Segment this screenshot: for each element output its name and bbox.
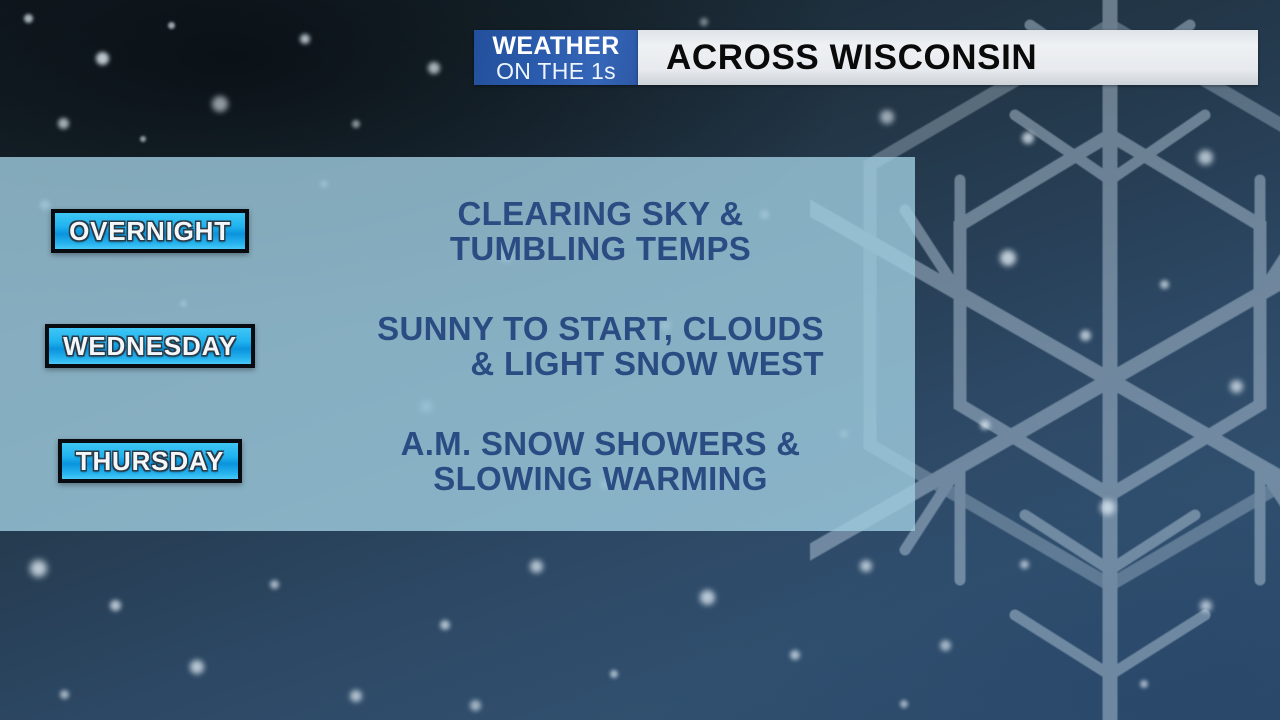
forecast-text-wrap: CLEARING SKY & TUMBLING TEMPS xyxy=(300,196,915,266)
weather-on-the-1s-logo: WEATHER ON THE 1s xyxy=(474,30,638,85)
forecast-text-wrap: A.M. SNOW SHOWERS & SLOWING WARMING xyxy=(300,426,915,496)
forecast-text-wrap: SUNNY TO START, CLOUDS & LIGHT SNOW WEST xyxy=(300,311,915,381)
forecast-panel: OVERNIGHT CLEARING SKY & TUMBLING TEMPS … xyxy=(0,157,915,531)
weather-graphic-stage: WEATHER ON THE 1s ACROSS WISCONSIN OVERN… xyxy=(0,0,1280,720)
page-title: ACROSS WISCONSIN xyxy=(638,38,1037,78)
day-badge-label: OVERNIGHT xyxy=(69,218,231,244)
day-badge-wrap: WEDNESDAY xyxy=(0,324,300,368)
logo-line-on-the-1s: ON THE 1s xyxy=(496,59,616,83)
day-badge-overnight: OVERNIGHT xyxy=(51,209,249,253)
logo-line-weather: WEATHER xyxy=(492,34,619,59)
day-badge-label: THURSDAY xyxy=(76,448,224,474)
title-bar: ACROSS WISCONSIN xyxy=(638,30,1258,85)
forecast-text: CLEARING SKY & TUMBLING TEMPS xyxy=(450,196,751,266)
day-badge-wrap: THURSDAY xyxy=(0,439,300,483)
forecast-row: OVERNIGHT CLEARING SKY & TUMBLING TEMPS xyxy=(0,195,915,267)
forecast-row: THURSDAY A.M. SNOW SHOWERS & SLOWING WAR… xyxy=(0,425,915,497)
day-badge-label: WEDNESDAY xyxy=(63,333,237,359)
day-badge-wednesday: WEDNESDAY xyxy=(45,324,255,368)
header: WEATHER ON THE 1s ACROSS WISCONSIN xyxy=(474,30,1258,85)
day-badge-thursday: THURSDAY xyxy=(58,439,242,483)
forecast-text: SUNNY TO START, CLOUDS & LIGHT SNOW WEST xyxy=(377,311,824,381)
forecast-row: WEDNESDAY SUNNY TO START, CLOUDS & LIGHT… xyxy=(0,310,915,382)
day-badge-wrap: OVERNIGHT xyxy=(0,209,300,253)
forecast-text: A.M. SNOW SHOWERS & SLOWING WARMING xyxy=(401,426,801,496)
